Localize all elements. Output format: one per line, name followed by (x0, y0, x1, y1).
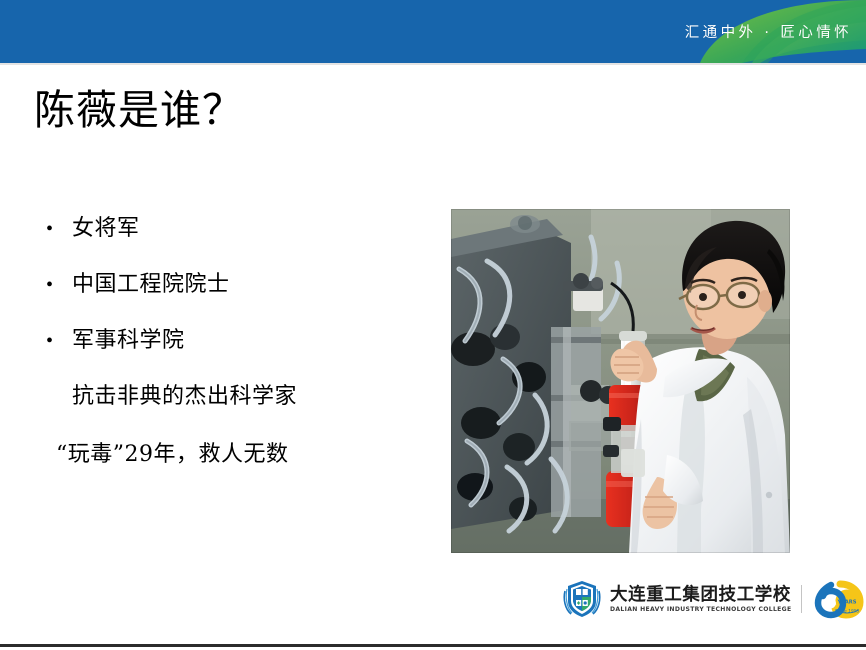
list-item: • 中国工程院院士 (40, 270, 440, 326)
bullet-dot-icon: • (40, 214, 72, 244)
presentation-slide: 汇通中外 · 匠心情怀 陈薇是谁？ • 女将军 • 中国工程院院士 • 军事科学… (0, 0, 866, 650)
page-title: 陈薇是谁？ (34, 86, 244, 134)
slide-body-content: • 女将军 • 中国工程院院士 • 军事科学院 抗击非典的杰出科学家 “玩毒”2… (40, 214, 440, 480)
continuation-line-text: 抗击非典的杰出科学家 (72, 382, 297, 440)
logo-name-english: DALIAN HEAVY INDUSTRY TECHNOLOGY COLLEGE (610, 605, 791, 614)
logo-wordmark: 大连重工集团技工学校 DALIAN HEAVY INDUSTRY TECHNOL… (610, 585, 791, 614)
anniversary-60-badge-icon: YEARS Since 1958 (814, 579, 866, 619)
logo-divider (801, 585, 802, 613)
bullet-dot-icon: • (40, 326, 72, 356)
header-tagline: 汇通中外 · 匠心情怀 (685, 21, 852, 42)
list-item: • 女将军 (40, 214, 440, 270)
scientist-laboratory-photo (451, 209, 790, 553)
logo-name-chinese: 大连重工集团技工学校 (610, 585, 791, 605)
list-item: • 军事科学院 (40, 326, 440, 382)
footer-branding: 大连重工集团技工学校 DALIAN HEAVY INDUSTRY TECHNOL… (561, 578, 846, 620)
bullet-text: 中国工程院院士 (72, 270, 230, 300)
slide-header-band: 汇通中外 · 匠心情怀 (0, 0, 866, 63)
quote-line-row: “玩毒”29年，救人无数 (40, 440, 440, 480)
school-crest-icon (561, 579, 603, 619)
header-underline-divider (0, 63, 866, 65)
bottom-rule-divider (0, 644, 866, 647)
bullet-text: 女将军 (72, 214, 140, 244)
continuation-line-row: 抗击非典的杰出科学家 (40, 382, 440, 440)
bullet-text: 军事科学院 (72, 326, 185, 356)
bullet-dot-icon: • (40, 270, 72, 300)
quote-line-text: “玩毒”29年，救人无数 (56, 440, 289, 480)
slide-photo (451, 209, 790, 553)
anniversary-since-label: Since 1958 (835, 609, 860, 615)
anniversary-years-label: YEARS (837, 600, 857, 606)
indent-spacer (40, 382, 72, 440)
